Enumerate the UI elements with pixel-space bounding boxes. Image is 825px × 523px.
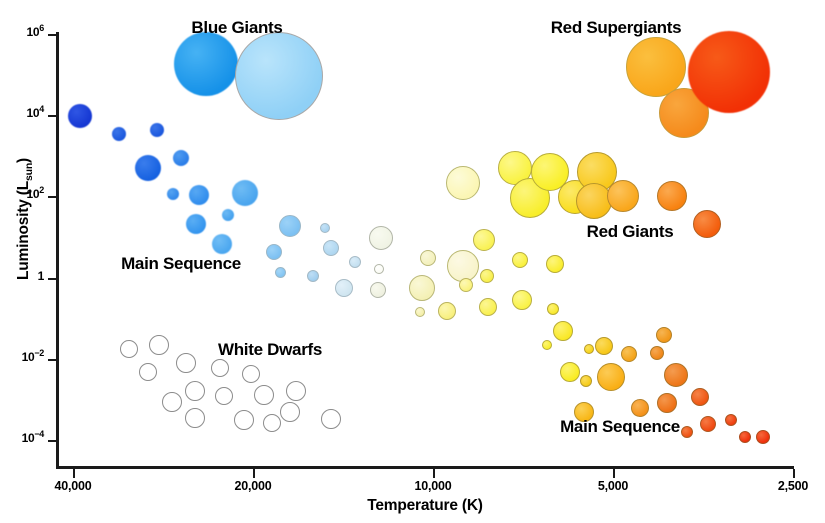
star-marker-main-sequence-white-yellow <box>621 346 637 362</box>
star-marker-main-sequence-white-yellow <box>473 229 495 251</box>
star-marker-white-dwarfs <box>185 408 205 428</box>
star-marker-main-sequence-white-yellow <box>420 250 436 266</box>
star-marker-main-sequence-blue <box>186 214 206 234</box>
star-marker-white-dwarfs <box>254 385 274 405</box>
star-marker-red-giants <box>657 181 687 211</box>
star-marker-main-sequence-white-yellow <box>664 363 688 387</box>
star-marker-blue-giants <box>235 32 323 120</box>
star-marker-main-sequence-white-yellow <box>546 255 564 273</box>
region-label-main-sequence-upper-left: Main Sequence <box>121 254 241 274</box>
star-marker-main-sequence-white-yellow <box>409 275 435 301</box>
star-marker-main-sequence-white-yellow <box>756 430 770 444</box>
star-marker-main-sequence-blue <box>150 123 164 137</box>
star-marker-main-sequence-blue <box>335 279 353 297</box>
star-marker-main-sequence-blue <box>266 244 282 260</box>
star-marker-white-dwarfs <box>185 381 205 401</box>
star-marker-main-sequence-white-yellow <box>560 362 580 382</box>
plot-area: Blue GiantsRed SupergiantsMain SequenceR… <box>0 0 825 523</box>
star-marker-main-sequence-white-yellow <box>438 302 456 320</box>
star-marker-main-sequence-white-yellow <box>553 321 573 341</box>
star-marker-main-sequence-blue <box>320 223 330 233</box>
star-marker-main-sequence-blue <box>323 240 339 256</box>
star-marker-main-sequence-white-yellow <box>480 269 494 283</box>
star-marker-main-sequence-white-yellow <box>447 250 479 282</box>
star-marker-main-sequence-blue <box>275 267 286 278</box>
star-marker-main-sequence-blue <box>173 150 189 166</box>
star-marker-white-dwarfs <box>176 353 196 373</box>
star-marker-main-sequence-blue <box>232 180 258 206</box>
star-marker-main-sequence-blue <box>279 215 301 237</box>
star-marker-white-dwarfs <box>162 392 182 412</box>
star-marker-main-sequence-white-yellow <box>681 426 693 438</box>
star-marker-white-dwarfs <box>280 402 300 422</box>
region-label-red-giants: Red Giants <box>587 222 674 242</box>
star-marker-main-sequence-white-yellow <box>576 183 612 219</box>
star-marker-main-sequence-blue <box>307 270 319 282</box>
star-marker-main-sequence-white-yellow <box>650 346 664 360</box>
star-marker-main-sequence-blue <box>374 264 384 274</box>
star-marker-main-sequence-white-yellow <box>656 327 672 343</box>
star-marker-white-dwarfs <box>234 410 254 430</box>
star-marker-main-sequence-blue <box>370 282 386 298</box>
star-marker-main-sequence-white-yellow <box>512 252 528 268</box>
star-marker-white-dwarfs <box>321 409 341 429</box>
star-marker-red-giants <box>693 210 721 238</box>
region-label-red-supergiants: Red Supergiants <box>551 18 682 38</box>
star-marker-main-sequence-blue <box>212 234 232 254</box>
star-marker-main-sequence-white-yellow <box>739 431 751 443</box>
region-label-white-dwarfs: White Dwarfs <box>218 340 322 360</box>
star-marker-main-sequence-white-yellow <box>584 344 594 354</box>
star-marker-main-sequence-white-yellow <box>415 307 425 317</box>
star-marker-blue-giants <box>174 32 238 96</box>
star-marker-main-sequence-blue <box>135 155 161 181</box>
star-marker-main-sequence-white-yellow <box>595 337 613 355</box>
star-marker-white-dwarfs <box>139 363 157 381</box>
region-label-main-sequence-lower-right: Main Sequence <box>560 417 680 437</box>
star-marker-main-sequence-white-yellow <box>512 290 532 310</box>
star-marker-white-dwarfs <box>242 365 260 383</box>
star-marker-red-supergiants <box>688 31 770 113</box>
star-marker-main-sequence-blue <box>167 188 179 200</box>
star-marker-white-dwarfs <box>149 335 169 355</box>
star-marker-white-dwarfs <box>120 340 138 358</box>
star-marker-main-sequence-blue <box>189 185 209 205</box>
star-marker-main-sequence-blue <box>349 256 361 268</box>
region-label-blue-giants: Blue Giants <box>191 18 282 38</box>
star-marker-main-sequence-white-yellow <box>597 363 625 391</box>
star-marker-main-sequence-blue <box>68 104 92 128</box>
star-marker-main-sequence-white-yellow <box>691 388 709 406</box>
star-marker-white-dwarfs <box>263 414 281 432</box>
star-marker-main-sequence-white-yellow <box>700 416 716 432</box>
star-marker-main-sequence-white-yellow <box>542 340 552 350</box>
star-marker-main-sequence-blue <box>222 209 234 221</box>
star-marker-main-sequence-white-yellow <box>479 298 497 316</box>
star-marker-main-sequence-blue <box>369 226 393 250</box>
star-marker-main-sequence-blue <box>112 127 126 141</box>
hr-diagram-chart: 106104102110−210−4 40,00020,00010,0005,0… <box>0 0 825 523</box>
star-marker-white-dwarfs <box>211 359 229 377</box>
star-marker-main-sequence-white-yellow <box>446 166 480 200</box>
star-marker-main-sequence-white-yellow <box>459 278 473 292</box>
star-marker-main-sequence-white-yellow <box>631 399 649 417</box>
star-marker-main-sequence-white-yellow <box>725 414 737 426</box>
star-marker-red-giants <box>607 180 639 212</box>
star-marker-main-sequence-white-yellow <box>657 393 677 413</box>
star-marker-white-dwarfs <box>215 387 233 405</box>
star-marker-main-sequence-white-yellow <box>547 303 559 315</box>
star-marker-white-dwarfs <box>286 381 306 401</box>
star-marker-main-sequence-white-yellow <box>580 375 592 387</box>
